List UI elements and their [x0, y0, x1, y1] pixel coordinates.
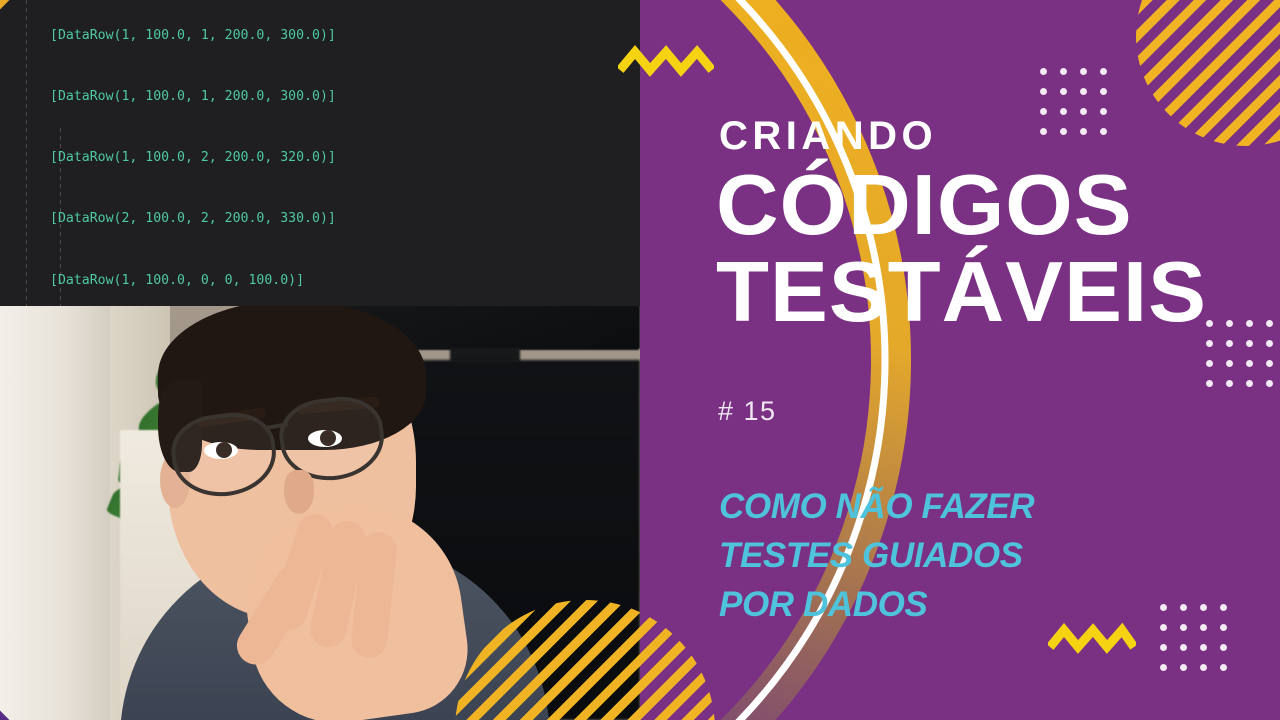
code-listing: [DataRow(1, 100.0, 1, 200.0, 300.0)] [Da… — [50, 0, 479, 306]
code-line: [DataRow(1, 100.0, 2, 200.0, 320.0)] — [50, 148, 479, 168]
dot — [1206, 320, 1213, 327]
dot — [1200, 624, 1207, 631]
dot — [1266, 340, 1273, 347]
dot-grid-top-right — [1040, 68, 1107, 135]
dot — [1246, 360, 1253, 367]
dot — [1060, 128, 1067, 135]
dot — [1160, 664, 1167, 671]
dot — [1226, 380, 1233, 387]
subtitle-line-1: COMO NÃO FAZER — [719, 482, 1034, 531]
zigzag-top — [618, 44, 714, 80]
dot — [1180, 604, 1187, 611]
dot — [1226, 320, 1233, 327]
subtitle-text: COMO NÃO FAZER TESTES GUIADOS POR DADOS — [719, 482, 1034, 629]
dot — [1040, 88, 1047, 95]
code-token-attribute: [DataRow(1, 100.0, 0, 0, 100.0)] — [50, 273, 304, 288]
nose — [284, 470, 314, 514]
dot — [1040, 68, 1047, 75]
kicker-text: CRIANDO — [719, 116, 937, 156]
dot — [1226, 360, 1233, 367]
dot — [1100, 68, 1107, 75]
dot-grid-bottom-right — [1160, 604, 1227, 671]
episode-number: # 15 — [718, 398, 777, 425]
page-title: CÓDIGOS TESTÁVEIS — [716, 162, 1207, 336]
dot — [1040, 108, 1047, 115]
dot — [1266, 360, 1273, 367]
code-line: [DataRow(1, 100.0, 1, 200.0, 300.0)] — [50, 87, 479, 107]
dot — [1060, 68, 1067, 75]
dot — [1220, 664, 1227, 671]
title-line-1: CÓDIGOS — [716, 162, 1207, 249]
dot-grid-mid-right — [1206, 320, 1273, 387]
dot — [1160, 604, 1167, 611]
code-token-attribute: [DataRow(1, 100.0, 1, 200.0, 300.0)] — [50, 28, 336, 43]
dot — [1220, 604, 1227, 611]
dot — [1160, 624, 1167, 631]
dot — [1226, 340, 1233, 347]
dot — [1080, 128, 1087, 135]
dot — [1180, 644, 1187, 651]
code-line: [DataRow(1, 100.0, 0, 0, 100.0)] — [50, 271, 479, 291]
dot — [1100, 128, 1107, 135]
dot — [1246, 340, 1253, 347]
dot — [1246, 320, 1253, 327]
subtitle-line-3: POR DADOS — [719, 580, 1034, 629]
dot — [1220, 644, 1227, 651]
dot — [1266, 380, 1273, 387]
code-line-partial: [DataRow(1, 100.0, 1, 200.0, 300.0)] — [50, 26, 479, 46]
dot — [1080, 68, 1087, 75]
zigzag-bottom — [1048, 622, 1136, 656]
dot — [1246, 380, 1253, 387]
dot — [1080, 108, 1087, 115]
dot — [1206, 340, 1213, 347]
dot — [1100, 108, 1107, 115]
code-token-attribute: [DataRow(2, 100.0, 2, 200.0, 330.0)] — [50, 211, 336, 226]
title-line-2: TESTÁVEIS — [716, 249, 1207, 336]
code-editor-screenshot: [DataRow(1, 100.0, 1, 200.0, 300.0)] [Da… — [0, 0, 640, 306]
code-token-attribute: [DataRow(1, 100.0, 2, 200.0, 320.0)] — [50, 150, 336, 165]
striped-circle-top-right — [1136, 0, 1280, 146]
dot — [1040, 128, 1047, 135]
code-token-attribute: [DataRow(1, 100.0, 1, 200.0, 300.0)] — [50, 89, 336, 104]
dot — [1080, 88, 1087, 95]
dot — [1220, 624, 1227, 631]
dot — [1060, 88, 1067, 95]
thumbnail-canvas: [DataRow(1, 100.0, 1, 200.0, 300.0)] [Da… — [0, 0, 1280, 720]
subtitle-line-2: TESTES GUIADOS — [719, 531, 1034, 580]
dot — [1200, 644, 1207, 651]
dot — [1180, 664, 1187, 671]
code-indent-guide — [26, 0, 27, 306]
dot — [1206, 360, 1213, 367]
dot — [1160, 644, 1167, 651]
dot — [1200, 604, 1207, 611]
dot — [1100, 88, 1107, 95]
dot — [1266, 320, 1273, 327]
dot — [1060, 108, 1067, 115]
dot — [1180, 624, 1187, 631]
code-line: [DataRow(2, 100.0, 2, 200.0, 330.0)] — [50, 209, 479, 229]
dot — [1206, 380, 1213, 387]
dot — [1200, 664, 1207, 671]
